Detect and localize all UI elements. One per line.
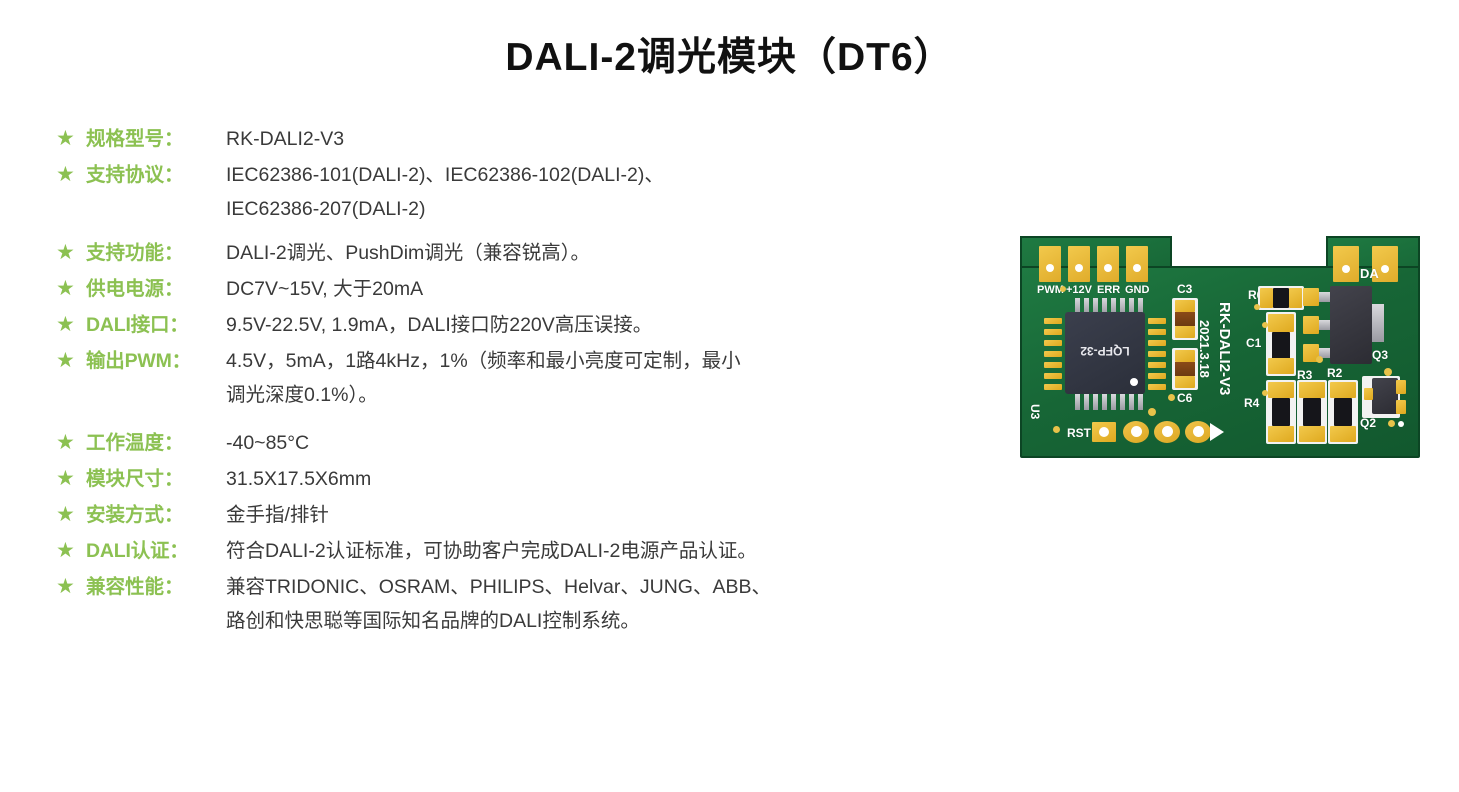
cap-c3-terminal (1175, 300, 1195, 312)
spec-row: ★ 规格型号： RK-DALI2-V3 (56, 124, 1006, 154)
resistor-r6-terminal (1289, 288, 1302, 308)
spec-value-line: 31.5X17.5X6mm (226, 464, 1006, 494)
spec-row: ★ 兼容性能： 兼容TRIDONIC、OSRAM、PHILIPS、Helvar、… (56, 572, 1006, 640)
q2-terminal (1396, 380, 1406, 394)
star-icon: ★ (56, 238, 86, 268)
test-pad-round-hole (1162, 426, 1173, 437)
chip-pad (1044, 362, 1062, 368)
spec-label: 供电电源： (86, 274, 226, 304)
via-hole (1398, 421, 1404, 427)
chip-pad (1044, 373, 1062, 379)
spec-row: ★ 输出PWM： 4.5V，5mA，1路4kHz，1%（频率和最小亮度可定制，最… (56, 346, 1006, 414)
spec-row: ★ 安装方式： 金手指/排针 (56, 500, 1006, 530)
silk-board-date: 2021.3.18 (1197, 320, 1212, 378)
chip-pin (1129, 394, 1134, 410)
spec-value: 金手指/排针 (226, 500, 1006, 530)
resistor-r3-terminal (1299, 426, 1325, 442)
spec-value-line: 符合DALI-2认证标准，可协助客户完成DALI-2电源产品认证。 (226, 536, 1006, 566)
chip-pad (1148, 340, 1166, 346)
q3-pad (1303, 288, 1319, 306)
resistor-r4-terminal (1268, 426, 1294, 442)
pcb-board: PWM +12V ERR GND DA (1020, 236, 1420, 458)
q3-pad (1303, 316, 1319, 334)
star-icon: ★ (56, 310, 86, 340)
polarity-triangle-icon (1210, 423, 1224, 441)
spec-value: 9.5V-22.5V, 1.9mA，DALI接口防220V高压误接。 (226, 310, 1006, 340)
cap-c1-terminal (1268, 358, 1294, 374)
chip-pad (1148, 318, 1166, 324)
cap-c6-body (1175, 362, 1195, 376)
silk-label-da: DA (1360, 266, 1379, 281)
pad-da-1-hole (1342, 265, 1350, 273)
spec-value-line: DC7V~15V, 大于20mA (226, 274, 1006, 304)
chip-pin (1075, 394, 1080, 410)
star-icon: ★ (56, 464, 86, 494)
silk-label-err: ERR (1097, 284, 1120, 296)
spec-label: DALI认证： (86, 536, 226, 566)
resistor-r6-body (1273, 288, 1289, 308)
chip-pad (1148, 329, 1166, 335)
pad-pwm-hole (1046, 264, 1054, 272)
star-icon: ★ (56, 274, 86, 304)
spec-value-line: DALI-2调光、PushDim调光（兼容锐高）。 (226, 238, 1006, 268)
chip-pin1-dot (1130, 378, 1138, 386)
chip-pad (1044, 329, 1062, 335)
resistor-r4-body (1272, 398, 1290, 426)
spec-value-line: RK-DALI2-V3 (226, 124, 1006, 154)
pad-err-hole (1104, 264, 1112, 272)
via (1060, 286, 1066, 292)
spec-row: ★ 支持功能： DALI-2调光、PushDim调光（兼容锐高）。 (56, 238, 1006, 268)
cap-c1-body (1272, 332, 1290, 360)
star-icon: ★ (56, 428, 86, 458)
silk-board-name: RK-DALI2-V3 (1216, 302, 1233, 395)
spec-label: 安装方式： (86, 500, 226, 530)
spec-label: 规格型号： (86, 124, 226, 154)
chip-marking-label: LQFP-32 (1075, 344, 1135, 358)
spec-label: 工作温度： (86, 428, 226, 458)
spec-row: ★ 支持协议： IEC62386-101(DALI-2)、IEC62386-10… (56, 160, 1006, 228)
cap-c3-terminal (1175, 326, 1195, 338)
resistor-r2-terminal (1330, 382, 1356, 398)
silk-label-q3: Q3 (1372, 348, 1388, 362)
silk-label-q2: Q2 (1360, 416, 1376, 430)
spec-value-line: -40~85°C (226, 428, 1006, 458)
spec-label: DALI接口： (86, 310, 226, 340)
via (1388, 420, 1395, 427)
product-image-pcb: PWM +12V ERR GND DA (1020, 236, 1420, 458)
spec-value: -40~85°C (226, 428, 1006, 458)
chip-pad (1044, 384, 1062, 390)
pad-da-1 (1333, 246, 1359, 282)
spec-value: 4.5V，5mA，1路4kHz，1%（频率和最小亮度可定制，最小 调光深度0.1… (226, 346, 1006, 414)
silk-label-12v: +12V (1066, 284, 1092, 296)
pad-12v-hole (1075, 264, 1083, 272)
test-pad-round-hole (1193, 426, 1204, 437)
silk-label-u3: U3 (1028, 404, 1042, 419)
via (1168, 394, 1175, 401)
spec-row: ★ DALI接口： 9.5V-22.5V, 1.9mA，DALI接口防220V高… (56, 310, 1006, 340)
silk-label-rst: RST (1067, 426, 1091, 440)
spec-value-line: 兼容TRIDONIC、OSRAM、PHILIPS、Helvar、JUNG、ABB… (226, 572, 1006, 602)
cap-c3-body (1175, 312, 1195, 326)
silk-label-c1: C1 (1246, 336, 1261, 350)
star-icon: ★ (56, 346, 86, 376)
spec-value-line: 金手指/排针 (226, 500, 1006, 530)
star-icon: ★ (56, 160, 86, 190)
resistor-r2-terminal (1330, 426, 1356, 442)
spec-label: 兼容性能： (86, 572, 226, 602)
silk-label-r4: R4 (1244, 396, 1259, 410)
spec-value-line: 9.5V-22.5V, 1.9mA，DALI接口防220V高压误接。 (226, 310, 1006, 340)
via (1384, 368, 1392, 376)
cap-c6-terminal (1175, 350, 1195, 362)
chip-pad (1148, 351, 1166, 357)
page-title: DALI-2调光模块（DT6） (0, 26, 1459, 82)
transistor-q2-body (1372, 378, 1398, 414)
spec-value-line: IEC62386-101(DALI-2)、IEC62386-102(DALI-2… (226, 160, 1006, 190)
spec-value: RK-DALI2-V3 (226, 124, 1006, 154)
via (1254, 304, 1260, 310)
q2-terminal (1364, 388, 1373, 400)
spec-label: 输出PWM： (86, 346, 226, 376)
via (1148, 408, 1156, 416)
test-pad-round-hole (1131, 426, 1142, 437)
chip-pin (1102, 394, 1107, 410)
spec-value: 兼容TRIDONIC、OSRAM、PHILIPS、Helvar、JUNG、ABB… (226, 572, 1006, 640)
spec-value: 符合DALI-2认证标准，可协助客户完成DALI-2电源产品认证。 (226, 536, 1006, 566)
chip-pin (1093, 394, 1098, 410)
spec-value: DC7V~15V, 大于20mA (226, 274, 1006, 304)
spec-list: ★ 规格型号： RK-DALI2-V3 ★ 支持协议： IEC62386-101… (56, 124, 1006, 646)
q3-tab (1372, 304, 1384, 342)
spec-row: ★ 供电电源： DC7V~15V, 大于20mA (56, 274, 1006, 304)
pad-da-2-hole (1381, 265, 1389, 273)
chip-pad (1148, 384, 1166, 390)
chip-pin (1084, 394, 1089, 410)
star-icon: ★ (56, 500, 86, 530)
resistor-r3-terminal (1299, 382, 1325, 398)
chip-pad (1044, 318, 1062, 324)
chip-pin (1111, 394, 1116, 410)
silk-label-c3: C3 (1177, 282, 1192, 296)
spec-value-line: 调光深度0.1%）。 (226, 376, 1006, 414)
resistor-r3-body (1303, 398, 1321, 426)
spec-row: ★ 模块尺寸： 31.5X17.5X6mm (56, 464, 1006, 494)
chip-pad (1044, 351, 1062, 357)
star-icon: ★ (56, 124, 86, 154)
star-icon: ★ (56, 536, 86, 566)
spec-row: ★ 工作温度： -40~85°C (56, 428, 1006, 458)
spec-value: DALI-2调光、PushDim调光（兼容锐高）。 (226, 238, 1006, 268)
via (1262, 390, 1268, 396)
cap-c6-terminal (1175, 376, 1195, 388)
spec-value-line: IEC62386-207(DALI-2) (226, 190, 1006, 228)
chip-pad (1044, 340, 1062, 346)
spec-value: IEC62386-101(DALI-2)、IEC62386-102(DALI-2… (226, 160, 1006, 228)
q2-terminal (1396, 400, 1406, 414)
via (1316, 356, 1323, 363)
chip-pin (1120, 394, 1125, 410)
via (1262, 322, 1268, 328)
resistor-r4-terminal (1268, 382, 1294, 398)
chip-pin (1138, 394, 1143, 410)
star-icon: ★ (56, 572, 86, 602)
transistor-q3-body (1330, 286, 1372, 364)
silk-label-gnd: GND (1125, 284, 1149, 296)
spec-label: 支持协议： (86, 160, 226, 190)
spec-value: 31.5X17.5X6mm (226, 464, 1006, 494)
spec-value-line: 路创和快思聪等国际知名品牌的DALI控制系统。 (226, 602, 1006, 640)
cap-c1-terminal (1268, 314, 1294, 332)
silk-label-r2: R2 (1327, 366, 1342, 380)
via (1053, 426, 1060, 433)
product-spec-page: DALI-2调光模块（DT6） ★ 规格型号： RK-DALI2-V3 ★ 支持… (0, 0, 1459, 792)
chip-pad (1148, 373, 1166, 379)
spec-row: ★ DALI认证： 符合DALI-2认证标准，可协助客户完成DALI-2电源产品… (56, 536, 1006, 566)
silk-label-c6: C6 (1177, 391, 1192, 405)
spec-value-line: 4.5V，5mA，1路4kHz，1%（频率和最小亮度可定制，最小 (226, 346, 1006, 376)
spec-label: 支持功能： (86, 238, 226, 268)
pad-gnd-hole (1133, 264, 1141, 272)
resistor-r2-body (1334, 398, 1352, 426)
chip-pad (1148, 362, 1166, 368)
test-pad-square-hole (1099, 427, 1109, 437)
spec-label: 模块尺寸： (86, 464, 226, 494)
resistor-r6-terminal (1260, 288, 1273, 308)
